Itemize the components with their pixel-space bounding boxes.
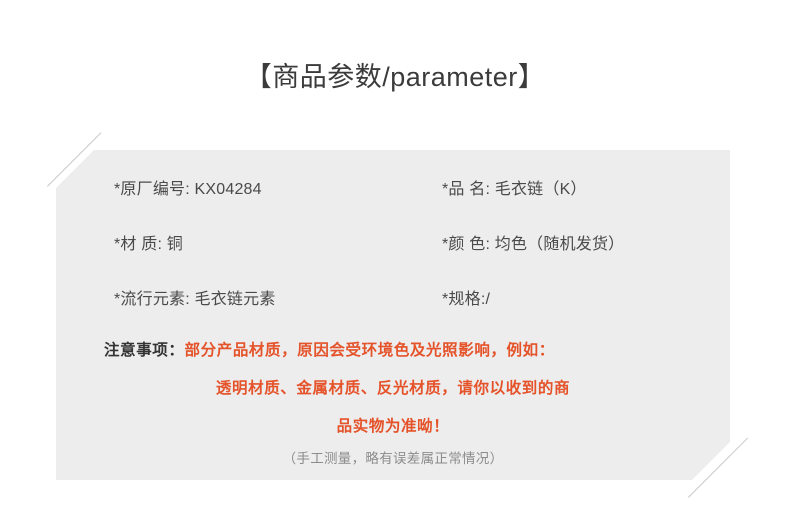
- measurement-footnote: （手工测量，略有误差属正常情况）: [56, 447, 730, 471]
- table-row: *材 质: 铜 *颜 色: 均色（随机发货）: [56, 217, 730, 272]
- table-row: *流行元素: 毛衣链元素 *规格:/: [56, 272, 730, 327]
- notice-line-2: 透明材质、金属材质、反光材质，请你以收到的商: [56, 370, 730, 408]
- notice-line-3: 品实物为准呦！: [56, 408, 730, 446]
- spec-table: *原厂编号: KX04284 *品 名: 毛衣链（K） *材 质: 铜 *颜 色…: [56, 150, 730, 315]
- notice-label: 注意事项：: [104, 342, 185, 359]
- spec-specification: *规格:/: [442, 272, 490, 327]
- product-parameter-page: 【商品参数/parameter】 *原厂编号: KX04284 *品 名: 毛衣…: [0, 0, 790, 527]
- notice-line-1: 注意事项：部分产品材质，原因会受环境色及光照影响，例如：: [56, 332, 730, 370]
- spec-color: *颜 色: 均色（随机发货）: [442, 217, 624, 272]
- spec-product-name: *品 名: 毛衣链（K）: [442, 162, 587, 217]
- spec-factory-code: *原厂编号: KX04284: [114, 162, 262, 217]
- notice-block: 注意事项：部分产品材质，原因会受环境色及光照影响，例如： 透明材质、金属材质、反…: [56, 332, 730, 446]
- spec-material: *材 质: 铜: [114, 217, 183, 272]
- page-title: 【商品参数/parameter】: [0, 58, 790, 96]
- spec-trend-element: *流行元素: 毛衣链元素: [114, 272, 276, 327]
- notice-text-1: 部分产品材质，原因会受环境色及光照影响，例如：: [185, 342, 555, 359]
- table-row: *原厂编号: KX04284 *品 名: 毛衣链（K）: [56, 162, 730, 217]
